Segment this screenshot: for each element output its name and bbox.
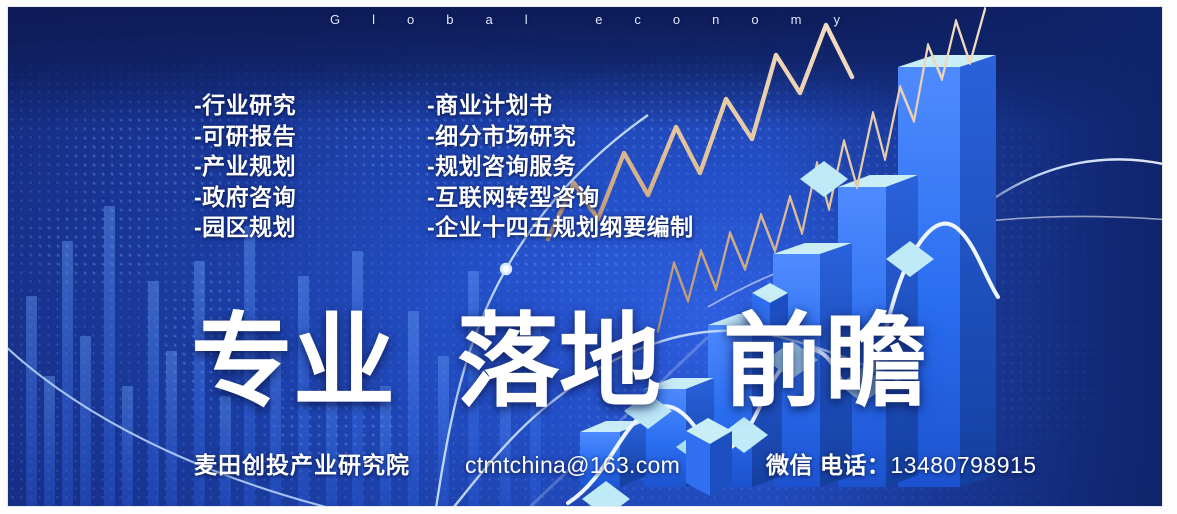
service-item: -细分市场研究 <box>427 121 694 152</box>
headline-word-3: 前瞻 <box>723 305 927 419</box>
footer-organization: 麦田创投产业研究院 <box>194 450 410 480</box>
service-item: -政府咨询 <box>194 182 296 213</box>
service-item: -规划咨询服务 <box>427 151 694 182</box>
phone-number: 13480798915 <box>890 452 1036 478</box>
cube-3d-small <box>686 418 732 496</box>
header-global-economy: Global economy <box>8 8 1162 32</box>
service-item: -商业计划书 <box>427 90 694 121</box>
footer-email[interactable]: ctmtchina@163.com <box>465 450 680 480</box>
promo-banner: Global economy -行业研究 -可研报告 -产业规划 -政府咨询 -… <box>8 7 1162 506</box>
chart-artwork <box>8 7 1162 506</box>
service-item: -互联网转型咨询 <box>427 182 694 213</box>
headline-word-2: 落地 <box>457 305 661 419</box>
service-item: -行业研究 <box>194 90 296 121</box>
services-list-right: -商业计划书 -细分市场研究 -规划咨询服务 -互联网转型咨询 -企业十四五规划… <box>427 90 694 243</box>
service-item: -可研报告 <box>194 121 296 152</box>
service-item: -产业规划 <box>194 151 296 182</box>
headline: 专业落地前瞻 <box>191 303 1021 421</box>
screenshot-root: Global economy -行业研究 -可研报告 -产业规划 -政府咨询 -… <box>0 0 1177 514</box>
footer-contact: 微信 电话：13480798915 <box>766 450 1037 480</box>
service-item: -园区规划 <box>194 212 296 243</box>
glow-dot <box>503 266 510 273</box>
headline-word-1: 专业 <box>191 305 395 419</box>
contact-label: 微信 电话： <box>766 452 890 478</box>
service-item: -企业十四五规划纲要编制 <box>427 212 694 243</box>
services-list-left: -行业研究 -可研报告 -产业规划 -政府咨询 -园区规划 <box>194 90 296 243</box>
